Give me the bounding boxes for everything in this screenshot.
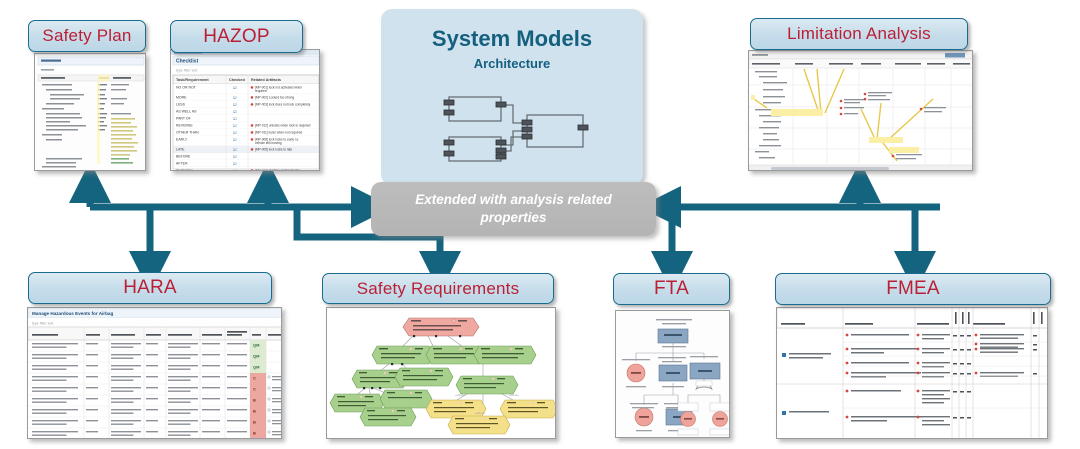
table-row[interactable]: AS WELL AS☑: [173, 108, 319, 115]
svg-text:MORE: MORE: [176, 96, 187, 100]
svg-text:☑: ☑: [233, 130, 237, 135]
svg-text:[MP-012] unlocks when lock is: [MP-012] unlocks when lock is required: [255, 123, 311, 127]
fmea-thumbnail: [777, 308, 1048, 439]
svg-text:AFTER: AFTER: [176, 162, 188, 166]
svg-text:Checklist: Checklist: [176, 59, 199, 65]
svg-text:☑: ☑: [233, 116, 237, 121]
table-row[interactable]: AFTER☑: [173, 160, 319, 167]
table-row[interactable]: LESS☑[MP-003] lock does not lock complet…: [173, 101, 319, 108]
svg-text:required: required: [255, 89, 267, 93]
panel-title-label: FMEA: [886, 278, 940, 300]
svg-text:☑: ☑: [233, 161, 237, 166]
svg-text:☑: ☑: [233, 102, 237, 107]
svg-text:B: B: [253, 409, 256, 414]
svg-text:«refines»: «refines»: [455, 394, 466, 397]
panel-title-fta[interactable]: FTA: [613, 273, 730, 305]
svg-text:Manage Hazardous Events for Ai: Manage Hazardous Events for Airbag: [32, 311, 113, 316]
svg-text:REVERSE: REVERSE: [176, 124, 193, 128]
svg-text:type filter text: type filter text: [32, 322, 53, 326]
panel-title-label: HARA: [123, 277, 177, 299]
safety-requirements-thumbnail: «refines»«refines»«refines»: [327, 308, 556, 439]
svg-text:Task/Requirement: Task/Requirement: [176, 78, 209, 82]
extended-properties-label: Extended with analysis related propertie…: [390, 191, 638, 227]
svg-text:☑: ☑: [233, 95, 237, 100]
screenshot-hara[interactable]: Manage Hazardous Events for Airbag type …: [27, 307, 282, 439]
svg-text:PART OF: PART OF: [176, 117, 191, 121]
panel-title-safety-plan[interactable]: Safety Plan: [28, 20, 146, 52]
svg-text:[MP-002] Locked too strong: [MP-002] Locked too strong: [255, 95, 294, 99]
svg-text:☑: ☑: [233, 154, 237, 159]
screenshot-hazop[interactable]: Checklist type filter text Task/Requirem…: [170, 49, 320, 171]
panel-title-label: Limitation Analysis: [787, 24, 931, 44]
panel-title-limitation-analysis[interactable]: Limitation Analysis: [750, 18, 968, 50]
hazop-thumbnail: Checklist type filter text Task/Requirem…: [171, 50, 320, 171]
limitation-analysis-thumbnail: [749, 51, 973, 171]
svg-text:C: C: [253, 376, 256, 381]
svg-text:BEFORE: BEFORE: [176, 155, 191, 159]
svg-text:☑: ☑: [233, 109, 237, 114]
svg-text:QM: QM: [253, 365, 260, 370]
svg-text:LESS: LESS: [176, 103, 186, 107]
svg-text:EARLY: EARLY: [176, 138, 188, 142]
svg-text:☑: ☑: [233, 168, 237, 171]
panel-title-hazop[interactable]: HAZOP: [170, 20, 303, 53]
diagram-canvas: Safety Plan: [0, 0, 1080, 449]
svg-text:B: B: [253, 431, 256, 436]
table-row[interactable]: PART OF☑: [173, 115, 319, 122]
panel-title-label: Safety Requirements: [357, 279, 520, 299]
system-models-block: System Models Architecture: [381, 9, 643, 185]
svg-text:LATE: LATE: [176, 148, 185, 152]
svg-text:NO OR NOT: NO OR NOT: [176, 86, 197, 90]
svg-text:☑: ☑: [233, 123, 237, 128]
svg-text:B: B: [253, 420, 256, 425]
svg-text:☑: ☑: [233, 85, 237, 90]
panel-title-label: FTA: [654, 278, 689, 300]
svg-text:Related Artifacts: Related Artifacts: [251, 78, 281, 82]
svg-text:QM: QM: [253, 354, 260, 359]
table-row[interactable]: OTHER THAN☑[MP-011] locks when not requi…: [173, 129, 319, 136]
table-row[interactable]: MORE☑[MP-002] Locked too strong: [173, 94, 319, 101]
table-row[interactable]: EARLY☑[MP-008] lock locks to early i.e.v…: [173, 136, 319, 146]
svg-text:☑: ☑: [233, 137, 237, 142]
screenshot-fmea[interactable]: [776, 307, 1048, 439]
svg-text:vehicle still moving: vehicle still moving: [255, 141, 282, 145]
system-models-subtitle: Architecture: [381, 56, 643, 71]
architecture-block-diagram: [433, 91, 593, 171]
panel-title-fmea[interactable]: FMEA: [775, 273, 1051, 305]
svg-text:[MP-011] locks when not requir: [MP-011] locks when not required: [255, 130, 302, 134]
screenshot-safety-requirements[interactable]: «refines»«refines»«refines»: [326, 307, 556, 439]
hara-thumbnail: Manage Hazardous Events for Airbag type …: [28, 308, 282, 439]
screenshot-limitation-analysis[interactable]: [748, 50, 973, 171]
panel-title-safety-requirements[interactable]: Safety Requirements: [322, 273, 554, 304]
fta-thumbnail: [616, 311, 730, 438]
system-models-title: System Models: [381, 26, 643, 52]
table-row[interactable]: NO OR NOT☑[MP-001] lock not activated wh…: [173, 84, 319, 94]
svg-text:«refines»: «refines»: [509, 394, 520, 397]
svg-text:Checked: Checked: [229, 78, 246, 82]
svg-text:AS WELL AS: AS WELL AS: [176, 110, 197, 114]
table-row[interactable]: REVERSE☑[MP-012] unlocks when lock is re…: [173, 122, 319, 129]
svg-text:B: B: [253, 398, 256, 403]
svg-text:type filter text: type filter text: [176, 69, 197, 73]
panel-title-hara[interactable]: HARA: [28, 272, 272, 304]
table-row[interactable]: LATE☑[MP-005] lock locks to late: [173, 146, 319, 153]
panel-title-label: HAZOP: [203, 26, 269, 48]
screenshot-safety-plan[interactable]: [34, 53, 146, 171]
svg-text:«refines»: «refines»: [475, 412, 486, 415]
table-row[interactable]: BEFORE☑: [173, 153, 319, 160]
panel-title-label: Safety Plan: [42, 26, 131, 46]
svg-text:[MP-003] lock does not lock co: [MP-003] lock does not lock completely: [255, 102, 311, 106]
svg-text:OTHER THAN: OTHER THAN: [176, 131, 199, 135]
svg-text:☑: ☑: [233, 147, 237, 152]
extended-properties-bar: Extended with analysis related propertie…: [371, 182, 656, 236]
screenshot-fta[interactable]: [615, 310, 730, 438]
svg-text:QM: QM: [253, 343, 260, 348]
safety-plan-thumbnail: [35, 54, 146, 171]
svg-text:C: C: [253, 387, 256, 392]
svg-text:[MP-005] lock locks to late: [MP-005] lock locks to late: [255, 147, 292, 151]
